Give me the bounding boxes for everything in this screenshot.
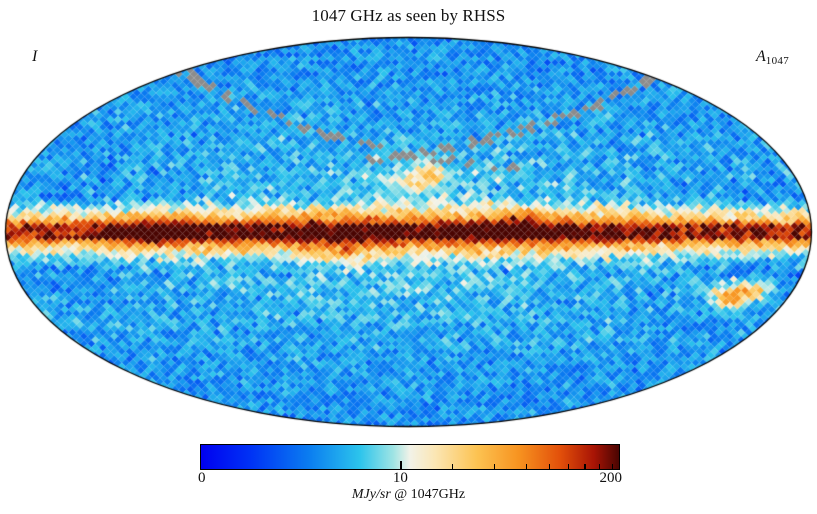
colorbar-ticks [200,444,620,470]
colorbar [200,444,620,470]
colorbar-unit-roman: @ 1047GHz [394,487,465,502]
page-title: 1047 GHz as seen by RHSS [0,6,817,26]
sky-map [4,36,813,428]
colorbar-tick-label: 200 [600,470,623,487]
colorbar-unit-italic: MJy/sr [352,487,391,502]
colorbar-tick-labels: 010200 [180,470,640,488]
colorbar-tick-label: 10 [393,470,408,487]
colorbar-major-tick [400,461,401,470]
mollweide-sky-canvas [4,36,813,428]
colorbar-unit-label: MJy/sr @ 1047GHz [0,487,817,503]
colorbar-tick-label: 0 [198,470,206,487]
